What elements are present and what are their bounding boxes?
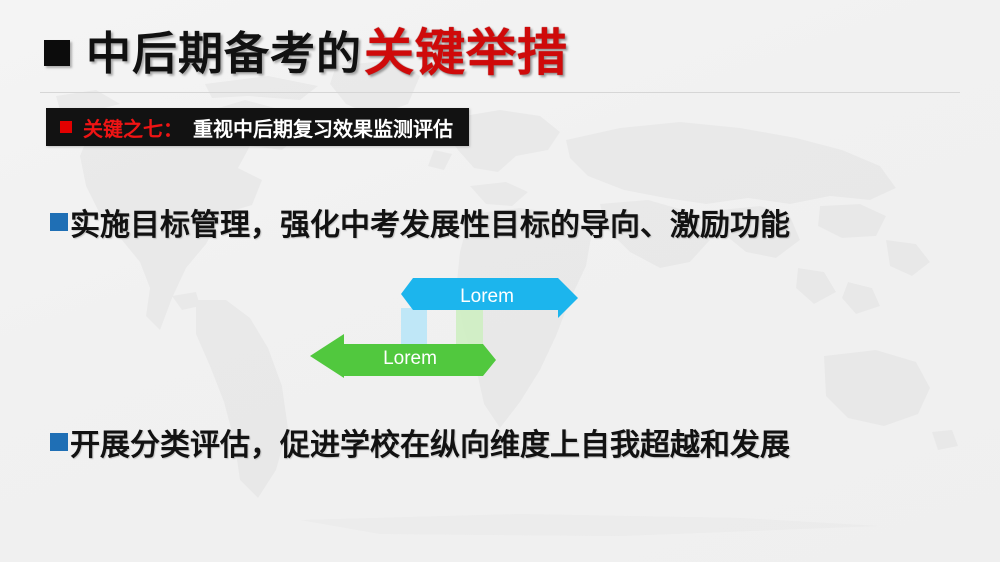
title-divider <box>40 92 960 93</box>
connector-band-blue <box>401 308 427 350</box>
arrow-left-green-label: Lorem <box>383 348 437 369</box>
black-square-bullet-icon <box>44 40 70 66</box>
subtitle-banner: 关键之七： 重视中后期复习效果监测评估 <box>46 108 469 146</box>
page-title: 中后期备考的 关键举措 <box>44 22 568 84</box>
red-square-bullet-icon <box>60 121 72 133</box>
connector-band-green <box>456 308 483 350</box>
bullet-item-1-label: 实施目标管理，强化中考发展性目标的导向、激励功能 <box>70 200 790 244</box>
bullet-item-2-label: 开展分类评估，促进学校在纵向维度上自我超越和发展 <box>70 420 790 464</box>
slide-canvas: 中后期备考的 关键举措 关键之七： 重视中后期复习效果监测评估 实施目标管理，强… <box>0 0 1000 562</box>
page-title-accent: 关键举措 <box>364 28 568 78</box>
blue-square-bullet-icon <box>50 213 68 231</box>
two-way-arrow-diagram: Lorem Lorem <box>300 272 600 380</box>
subtitle-label: 关键之七： <box>83 113 183 142</box>
page-title-main: 中后期备考的 <box>86 31 362 76</box>
subtitle-text: 重视中后期复习效果监测评估 <box>193 113 453 142</box>
bullet-item-2: 开展分类评估，促进学校在纵向维度上自我超越和发展 <box>50 420 790 464</box>
bullet-item-1: 实施目标管理，强化中考发展性目标的导向、激励功能 <box>50 200 790 244</box>
blue-square-bullet-icon <box>50 433 68 451</box>
arrow-right-blue-label: Lorem <box>460 286 514 307</box>
